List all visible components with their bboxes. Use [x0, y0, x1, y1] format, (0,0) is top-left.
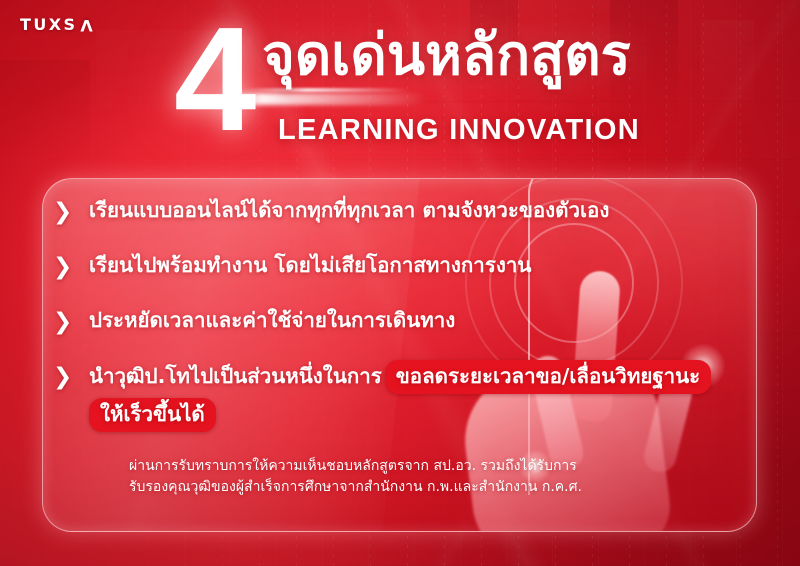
highlight-badge-secondary: ให้เร็วขึ้นได้ — [89, 398, 216, 432]
list-item: ❯ เรียนไปพร้อมทำงาน โดยไม่เสียโอกาสทางกา… — [53, 250, 743, 280]
list-item: ❯ ประหยัดเวลาและค่าใช้จ่ายในการเดินทาง — [53, 305, 743, 335]
list-item: ❯ เรียนแบบออนไลน์ได้จากทุกที่ทุกเวลา ตาม… — [53, 195, 743, 225]
footnote-line-2: รับรองคุณวุฒิของผู้สำเร็จการศึกษาจากสำนั… — [129, 477, 649, 498]
list-item: ❯ นำวุฒิป.โทไปเป็นส่วนหนึ่งในการขอลดระยะ… — [53, 360, 743, 432]
light-streak-thin — [240, 88, 410, 92]
poster-root: TUXSV 4 จุดเด่นหลักสูตร LEARNING INNOVAT… — [0, 0, 800, 566]
headline-thai: จุดเด่นหลักสูตร — [262, 24, 631, 88]
chevron-right-icon: ❯ — [53, 201, 75, 224]
light-streak — [216, 93, 426, 105]
chevron-right-icon: ❯ — [53, 366, 75, 389]
feature-text: เรียนแบบออนไลน์ได้จากทุกที่ทุกเวลา ตามจั… — [89, 195, 609, 225]
chevron-right-icon: ❯ — [53, 311, 75, 334]
feature-list: ❯ เรียนแบบออนไลน์ได้จากทุกที่ทุกเวลา ตาม… — [53, 195, 743, 457]
poster-header: 4 จุดเด่นหลักสูตร LEARNING INNOVATION — [0, 0, 800, 175]
chevron-right-icon: ❯ — [53, 256, 75, 279]
feature-text: นำวุฒิป.โทไปเป็นส่วนหนึ่งในการ — [89, 364, 382, 388]
highlight-badge-primary: ขอลดระยะเวลาขอ/เลื่อนวิทยฐานะ — [385, 360, 711, 394]
features-card: ❯ เรียนแบบออนไลน์ได้จากทุกที่ทุกเวลา ตาม… — [42, 178, 757, 532]
footnote-line-1: ผ่านการรับทราบการให้ความเห็นชอบหลักสูตรจ… — [129, 456, 649, 477]
feature-text: ประหยัดเวลาและค่าใช้จ่ายในการเดินทาง — [89, 305, 455, 335]
feature-text-wrapper: นำวุฒิป.โทไปเป็นส่วนหนึ่งในการขอลดระยะเว… — [89, 360, 711, 432]
feature-text: เรียนไปพร้อมทำงาน โดยไม่เสียโอกาสทางการง… — [89, 250, 531, 280]
footnote: ผ่านการรับทราบการให้ความเห็นชอบหลักสูตรจ… — [129, 456, 649, 498]
headline-number: 4 — [174, 6, 252, 154]
headline-english: LEARNING INNOVATION — [278, 113, 640, 147]
